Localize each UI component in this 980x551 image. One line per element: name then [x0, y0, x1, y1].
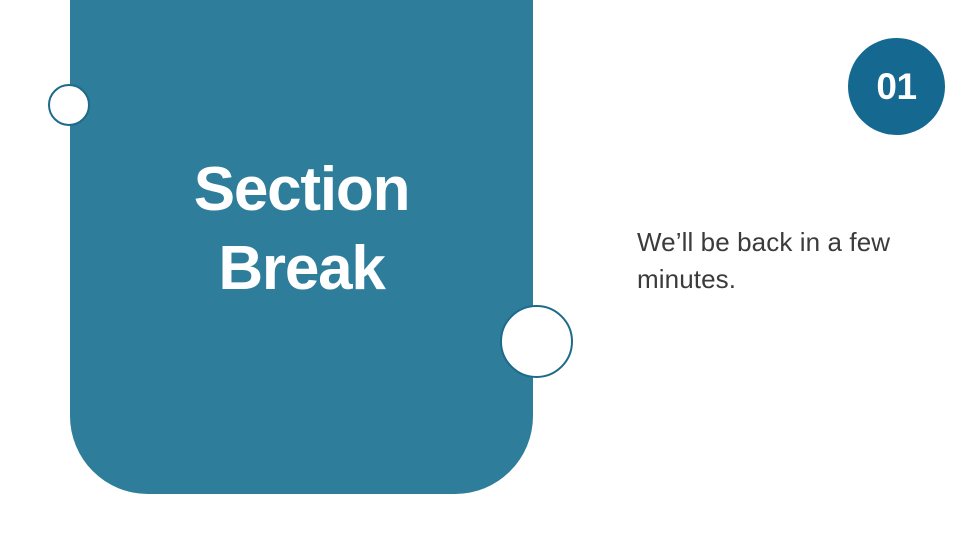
section-break-headline: Section Break [70, 150, 533, 309]
section-break-body-text: We’ll be back in a few minutes. [637, 224, 937, 298]
headline-line-1: Section [70, 150, 533, 229]
section-number-label: 01 [876, 68, 916, 105]
slide-canvas: Section Break 01 We’ll be back in a few … [0, 0, 980, 551]
section-number-badge: 01 [848, 38, 945, 135]
decorative-circle-small-icon [48, 84, 90, 126]
decorative-circle-large-icon [500, 305, 573, 378]
headline-line-2: Break [70, 229, 533, 308]
